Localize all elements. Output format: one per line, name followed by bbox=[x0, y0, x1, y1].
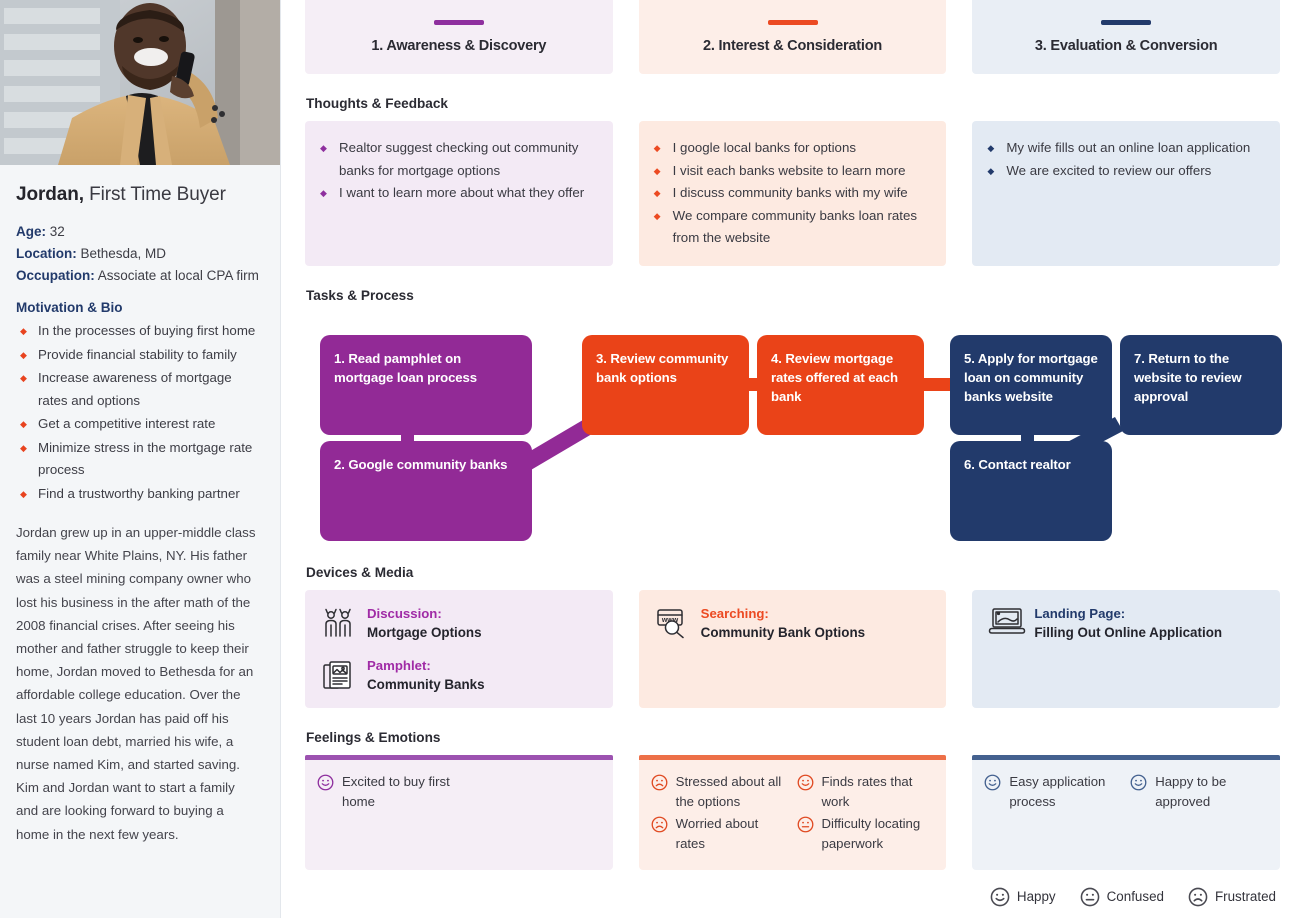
thoughts-card-evaluation: My wife fills out an online loan applica… bbox=[972, 121, 1280, 266]
pamphlet-document-icon bbox=[321, 658, 355, 692]
task-label: 4. Review mortgage rates offered at each… bbox=[771, 351, 898, 404]
list-item: We compare community banks loan rates fr… bbox=[653, 205, 931, 250]
legend-label: Frustrated bbox=[1215, 889, 1276, 904]
devices-card-awareness: Discussion:Mortgage OptionsPamphlet:Comm… bbox=[305, 590, 613, 708]
legend-label: Confused bbox=[1107, 889, 1164, 904]
stage-awareness[interactable]: 1. Awareness & Discovery bbox=[305, 0, 613, 74]
persona-name-role: First Time Buyer bbox=[84, 184, 226, 205]
device-media-key: Landing Page: bbox=[1034, 606, 1125, 621]
task-box-4[interactable]: 4. Review mortgage rates offered at each… bbox=[757, 335, 924, 435]
device-media-key: Searching: bbox=[701, 606, 769, 621]
task-label: 5. Apply for mortgage loan on community … bbox=[964, 351, 1098, 404]
feeling-text: Difficulty locating paperwork bbox=[822, 814, 935, 855]
feelings-card-awareness: Excited to buy first home bbox=[305, 755, 613, 870]
happy-face-icon bbox=[990, 887, 1010, 907]
thoughts-list: Realtor suggest checking out community b… bbox=[319, 137, 597, 205]
tasks-flow-diagram: 1. Read pamphlet on mortgage loan proces… bbox=[305, 313, 1280, 543]
list-item: In the processes of buying first home bbox=[18, 320, 264, 343]
feeling-item: Finds rates that work bbox=[797, 772, 935, 813]
frustrated-face-icon bbox=[1188, 887, 1208, 907]
stage-header-row: 1. Awareness & Discovery 2. Interest & C… bbox=[305, 0, 1280, 74]
feeling-text: Worried about rates bbox=[676, 814, 789, 855]
stage-accent-bar bbox=[434, 20, 484, 25]
journey-main: 1. Awareness & Discovery 2. Interest & C… bbox=[281, 0, 1300, 918]
stage-interest[interactable]: 2. Interest & Consideration bbox=[639, 0, 947, 74]
feeling-text: Stressed about all the options bbox=[676, 772, 789, 813]
motivation-list: In the processes of buying first home Pr… bbox=[18, 320, 264, 505]
stage-label: 3. Evaluation & Conversion bbox=[1035, 38, 1218, 54]
stage-accent-bar bbox=[1101, 20, 1151, 25]
feeling-text: Easy application process bbox=[1009, 772, 1122, 813]
confused-face-icon bbox=[1080, 887, 1100, 907]
list-item: I discuss community banks with my wife bbox=[653, 182, 931, 205]
emotion-legend: HappyConfusedFrustrated bbox=[305, 887, 1280, 907]
feelings-columns: Easy application processHappy to be appr… bbox=[972, 760, 1280, 828]
feeling-item: Easy application process bbox=[984, 772, 1122, 813]
device-media-value: Filling Out Online Application bbox=[1034, 625, 1222, 640]
feeling-text: Finds rates that work bbox=[822, 772, 935, 813]
task-box-2[interactable]: 2. Google community banks bbox=[320, 441, 532, 541]
persona-bio-text: Jordan grew up in an upper-middle class … bbox=[16, 521, 264, 846]
task-box-5[interactable]: 5. Apply for mortgage loan on community … bbox=[950, 335, 1112, 435]
happy-face-icon bbox=[317, 774, 334, 791]
feelings-columns: Excited to buy first home bbox=[305, 760, 613, 828]
feeling-item: Difficulty locating paperwork bbox=[797, 814, 935, 855]
feeling-item: Happy to be approved bbox=[1130, 772, 1268, 813]
thoughts-band: Realtor suggest checking out community b… bbox=[305, 121, 1280, 266]
thoughts-list: I google local banks for optionsI visit … bbox=[653, 137, 931, 250]
feelings-column: Happy to be approved bbox=[1130, 772, 1268, 814]
list-item: Increase awareness of mortgage rates and… bbox=[18, 367, 264, 412]
devices-media-heading: Devices & Media bbox=[306, 565, 1280, 580]
list-item: Find a trustworthy banking partner bbox=[18, 483, 264, 506]
task-box-7[interactable]: 7. Return to the website to review appro… bbox=[1120, 335, 1282, 435]
list-item: Get a competitive interest rate bbox=[18, 413, 264, 436]
task-box-6[interactable]: 6. Contact realtor bbox=[950, 441, 1112, 541]
www-search-icon: www bbox=[655, 606, 689, 640]
age-label: Age: bbox=[16, 224, 46, 239]
feelings-column: Easy application process bbox=[984, 772, 1122, 814]
feelings-card-evaluation: Easy application processHappy to be appr… bbox=[972, 755, 1280, 870]
task-box-3[interactable]: 3. Review community bank options bbox=[582, 335, 749, 435]
feelings-column: Stressed about all the optionsWorried ab… bbox=[651, 772, 789, 856]
journey-map-page: Jordan, First Time Buyer Age: 32 Locatio… bbox=[0, 0, 1300, 918]
legend-label: Happy bbox=[1017, 889, 1056, 904]
stage-label: 2. Interest & Consideration bbox=[703, 38, 882, 54]
persona-photo bbox=[0, 0, 281, 165]
device-media-key: Pamphlet: bbox=[367, 658, 431, 673]
happy-face-icon bbox=[797, 774, 814, 791]
laptop-landing-page-icon bbox=[988, 606, 1022, 640]
device-media-value: Mortgage Options bbox=[367, 625, 482, 640]
happy-face-icon bbox=[984, 774, 1001, 791]
task-label: 2. Google community banks bbox=[334, 457, 507, 472]
feelings-emotions-heading: Feelings & Emotions bbox=[306, 730, 1280, 745]
list-item: Provide financial stability to family bbox=[18, 344, 264, 367]
legend-item-frustrated: Frustrated bbox=[1188, 887, 1276, 907]
feeling-item: Worried about rates bbox=[651, 814, 789, 855]
location-label: Location: bbox=[16, 246, 77, 261]
feelings-columns: Stressed about all the optionsWorried ab… bbox=[639, 760, 947, 870]
list-item: Realtor suggest checking out community b… bbox=[319, 137, 597, 182]
device-media-item: Discussion:Mortgage Options bbox=[321, 604, 597, 642]
stage-accent-bar bbox=[768, 20, 818, 25]
frustrated-face-icon bbox=[651, 816, 668, 833]
persona-field-occupation: Occupation: Associate at local CPA firm bbox=[16, 265, 264, 286]
feelings-column: Excited to buy first home bbox=[317, 772, 455, 814]
device-media-item: wwwSearching:Community Bank Options bbox=[655, 604, 931, 642]
devices-card-interest: wwwSearching:Community Bank Options bbox=[639, 590, 947, 708]
device-media-value: Community Bank Options bbox=[701, 625, 865, 640]
thoughts-list: My wife fills out an online loan applica… bbox=[986, 137, 1264, 182]
list-item: I visit each banks website to learn more bbox=[653, 160, 931, 183]
persona-field-age: Age: 32 bbox=[16, 221, 264, 242]
list-item: I google local banks for options bbox=[653, 137, 931, 160]
device-media-key: Discussion: bbox=[367, 606, 442, 621]
feeling-item: Excited to buy first home bbox=[317, 772, 455, 813]
feeling-text: Happy to be approved bbox=[1155, 772, 1268, 813]
location-value: Bethesda, MD bbox=[77, 246, 166, 261]
task-label: 7. Return to the website to review appro… bbox=[1134, 351, 1242, 404]
device-media-value: Community Banks bbox=[367, 677, 485, 692]
thoughts-card-awareness: Realtor suggest checking out community b… bbox=[305, 121, 613, 266]
device-media-item: Pamphlet:Community Banks bbox=[321, 656, 597, 694]
feelings-column: Finds rates that workDifficulty locating… bbox=[797, 772, 935, 856]
list-item: I want to learn more about what they off… bbox=[319, 182, 597, 205]
persona-field-location: Location: Bethesda, MD bbox=[16, 243, 264, 264]
feelings-band: Excited to buy first home Stressed about… bbox=[305, 755, 1280, 870]
legend-item-happy: Happy bbox=[990, 887, 1056, 907]
list-item: My wife fills out an online loan applica… bbox=[986, 137, 1264, 160]
task-label: 3. Review community bank options bbox=[596, 351, 728, 385]
occupation-value: Associate at local CPA firm bbox=[95, 268, 259, 283]
motivation-bio-heading: Motivation & Bio bbox=[16, 300, 264, 315]
stage-evaluation[interactable]: 3. Evaluation & Conversion bbox=[972, 0, 1280, 74]
confused-face-icon bbox=[797, 816, 814, 833]
happy-face-icon bbox=[1130, 774, 1147, 791]
devices-card-evaluation: Landing Page:Filling Out Online Applicat… bbox=[972, 590, 1280, 708]
feelings-card-interest: Stressed about all the optionsWorried ab… bbox=[639, 755, 947, 870]
feeling-text: Excited to buy first home bbox=[342, 772, 455, 813]
people-discussion-icon bbox=[321, 606, 355, 640]
list-item: Minimize stress in the mortgage rate pro… bbox=[18, 437, 264, 482]
device-media-item: Landing Page:Filling Out Online Applicat… bbox=[988, 604, 1264, 642]
task-box-1[interactable]: 1. Read pamphlet on mortgage loan proces… bbox=[320, 335, 532, 435]
age-value: 32 bbox=[46, 224, 65, 239]
tasks-process-heading: Tasks & Process bbox=[306, 288, 1280, 303]
occupation-label: Occupation: bbox=[16, 268, 95, 283]
feeling-item: Stressed about all the options bbox=[651, 772, 789, 813]
persona-details: Jordan, First Time Buyer Age: 32 Locatio… bbox=[0, 165, 280, 846]
thoughts-feedback-heading: Thoughts & Feedback bbox=[306, 96, 1280, 111]
task-label: 6. Contact realtor bbox=[964, 457, 1071, 472]
frustrated-face-icon bbox=[651, 774, 668, 791]
list-item: We are excited to review our offers bbox=[986, 160, 1264, 183]
persona-name: Jordan, First Time Buyer bbox=[16, 183, 264, 207]
feelings-column bbox=[463, 772, 601, 814]
task-label: 1. Read pamphlet on mortgage loan proces… bbox=[334, 351, 477, 385]
persona-sidebar: Jordan, First Time Buyer Age: 32 Locatio… bbox=[0, 0, 281, 918]
thoughts-card-interest: I google local banks for optionsI visit … bbox=[639, 121, 947, 266]
stage-label: 1. Awareness & Discovery bbox=[371, 38, 546, 54]
persona-name-bold: Jordan, bbox=[16, 184, 84, 205]
legend-item-confused: Confused bbox=[1080, 887, 1164, 907]
devices-band: Discussion:Mortgage OptionsPamphlet:Comm… bbox=[305, 590, 1280, 708]
